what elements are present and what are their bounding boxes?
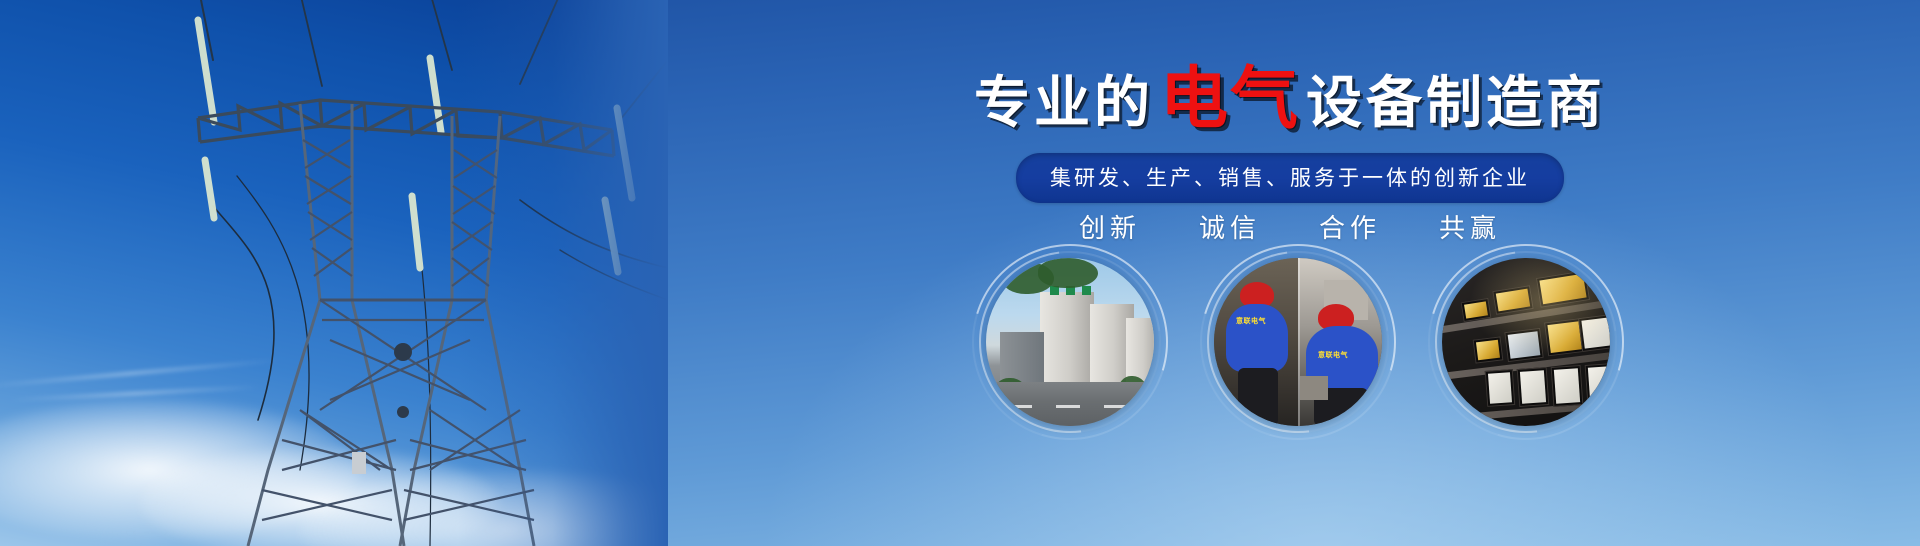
subtitle-pill-wrapper: 集研发、生产、销售、服务于一体的创新企业 bbox=[660, 153, 1920, 203]
keyword-cooperation: 合作 bbox=[1319, 208, 1381, 245]
photo-fade-overlay bbox=[458, 0, 668, 546]
keyword-integrity: 诚信 bbox=[1199, 208, 1261, 245]
headline-highlight: 电气 bbox=[1154, 60, 1306, 139]
office-building-image bbox=[986, 258, 1154, 426]
banner-content: 专业的电气设备制造商 集研发、生产、销售、服务于一体的创新企业 创新 诚信 合作… bbox=[660, 0, 1920, 546]
headline-part-1: 专业的 bbox=[974, 71, 1154, 136]
workers-installation-image: 意联电气 意联电气 bbox=[1214, 258, 1382, 426]
circle-photo-certificates[interactable] bbox=[1442, 258, 1610, 426]
transmission-tower-photo bbox=[0, 0, 668, 546]
keyword-winwin: 共赢 bbox=[1439, 208, 1501, 245]
certificate-wall-image bbox=[1442, 258, 1610, 426]
headline-part-2: 设备制造商 bbox=[1306, 71, 1606, 136]
subtitle-pill: 集研发、生产、销售、服务于一体的创新企业 bbox=[1016, 153, 1564, 203]
headline: 专业的电气设备制造商 bbox=[660, 66, 1920, 134]
keyword-innovation: 创新 bbox=[1079, 208, 1141, 245]
circular-photos-row: 意联电气 意联电气 bbox=[660, 258, 1920, 426]
circle-photo-workers[interactable]: 意联电气 意联电气 bbox=[1214, 258, 1382, 426]
circle-photo-office-building[interactable] bbox=[986, 258, 1154, 426]
keywords-row: 创新 诚信 合作 共赢 bbox=[660, 208, 1920, 245]
hero-banner: 专业的电气设备制造商 集研发、生产、销售、服务于一体的创新企业 创新 诚信 合作… bbox=[0, 0, 1920, 546]
